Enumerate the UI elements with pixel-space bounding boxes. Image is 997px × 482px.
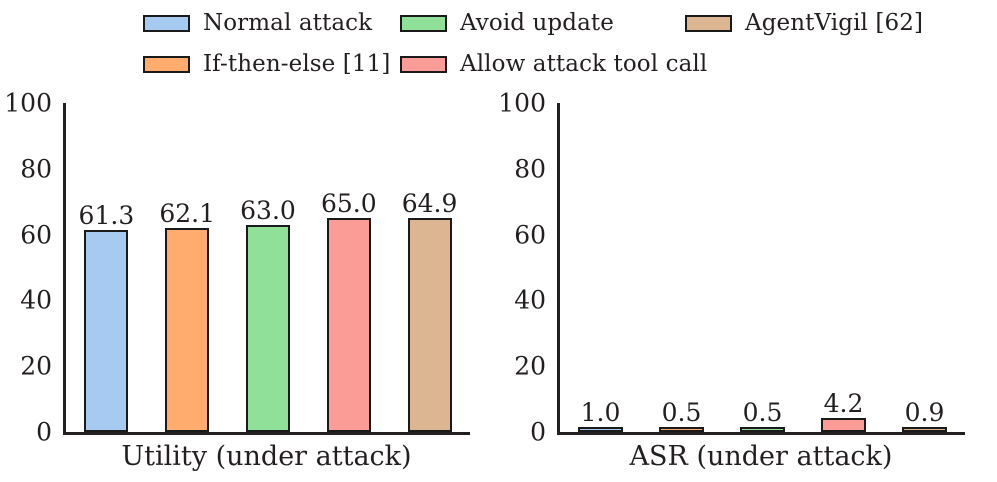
y-axis-tick-label: 100 — [498, 91, 546, 116]
bar-slot: 61.3 — [66, 103, 147, 432]
y-axis-tick-label: 100 — [4, 91, 52, 116]
plot-area-utility: 020406080100 61.362.163.065.064.9 Utilit… — [63, 103, 470, 435]
bar-slot: 0.5 — [722, 103, 803, 432]
y-axis-tick-label: 20 — [514, 354, 546, 379]
y-axis-tick-label: 0 — [530, 420, 546, 445]
bar: 1.0 — [578, 427, 622, 432]
bar-slot: 0.9 — [884, 103, 965, 432]
bar-value-label: 61.3 — [79, 203, 135, 228]
bar-value-label: 0.5 — [743, 400, 783, 425]
bar-value-label: 65.0 — [321, 191, 377, 216]
y-axis-tick-label: 0 — [36, 420, 52, 445]
bar-group: 61.362.163.065.064.9 — [66, 103, 470, 432]
bar: 0.9 — [902, 427, 946, 432]
bar-group: 1.00.50.54.20.9 — [560, 103, 965, 432]
x-axis-spine — [63, 432, 470, 435]
y-axis-tick-label: 60 — [514, 222, 546, 247]
x-axis-label: ASR (under attack) — [557, 443, 965, 470]
y-axis-tick-label: 40 — [20, 288, 52, 313]
bar-value-label: 63.0 — [240, 198, 296, 223]
bar-slot: 0.5 — [641, 103, 722, 432]
bar: 61.3 — [84, 230, 128, 432]
plot-area-asr: 020406080100 1.00.50.54.20.9 ASR (under … — [557, 103, 965, 435]
chart-panel-utility: 020406080100 61.362.163.065.064.9 Utilit… — [0, 0, 497, 482]
bar: 4.2 — [821, 418, 865, 432]
bar-slot: 64.9 — [389, 103, 470, 432]
bar-value-label: 64.9 — [402, 191, 458, 216]
bar-value-label: 0.9 — [905, 400, 945, 425]
y-axis-tick-label: 80 — [514, 156, 546, 181]
bar-slot: 4.2 — [803, 103, 884, 432]
bar-value-label: 62.1 — [159, 201, 215, 226]
bar-slot: 1.0 — [560, 103, 641, 432]
y-axis-tick-label: 60 — [20, 222, 52, 247]
y-axis-tick-label: 40 — [514, 288, 546, 313]
bar: 65.0 — [327, 218, 371, 432]
bar-value-label: 4.2 — [824, 391, 864, 416]
bar: 63.0 — [246, 225, 290, 432]
bar-slot: 63.0 — [228, 103, 309, 432]
bar: 62.1 — [165, 228, 209, 432]
x-axis-label: Utility (under attack) — [63, 443, 470, 470]
bar-value-label: 0.5 — [662, 400, 702, 425]
bar: 0.5 — [740, 427, 784, 432]
bar-slot: 65.0 — [308, 103, 389, 432]
y-axis-tick-label: 80 — [20, 156, 52, 181]
x-axis-spine — [557, 432, 965, 435]
bar: 64.9 — [408, 218, 452, 432]
bar-value-label: 1.0 — [581, 400, 621, 425]
y-axis-tick-label: 20 — [20, 354, 52, 379]
chart-panel-asr: 020406080100 1.00.50.54.20.9 ASR (under … — [497, 0, 997, 482]
bar: 0.5 — [659, 427, 703, 432]
bar-slot: 62.1 — [147, 103, 228, 432]
